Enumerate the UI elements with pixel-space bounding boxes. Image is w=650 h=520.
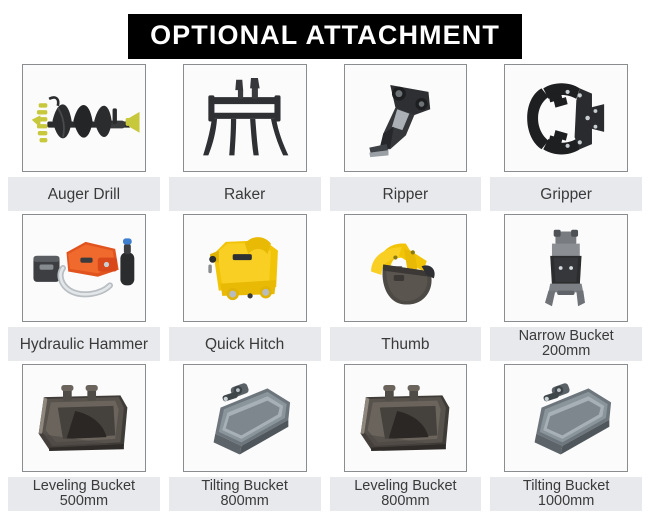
hydraulic-hammer-image-art xyxy=(23,215,145,321)
raker-image xyxy=(183,64,307,172)
attachment-card-leveling-bucket-800[interactable]: Leveling Bucket800mm xyxy=(330,364,482,514)
leveling-bucket-image-art xyxy=(345,365,467,471)
gripper-image xyxy=(504,64,628,172)
attachment-card-leveling-bucket-500[interactable]: Leveling Bucket500mm xyxy=(8,364,160,514)
attachment-name: Raker xyxy=(224,187,265,202)
attachment-label-thumb: Thumb xyxy=(330,327,482,361)
hydraulic-hammer-image xyxy=(22,214,146,322)
attachment-card-raker[interactable]: Raker xyxy=(169,64,321,214)
attachment-label-narrow-bucket: Narrow Bucket200mm xyxy=(490,327,642,361)
raker-image-art xyxy=(184,65,306,171)
attachment-card-tilting-bucket-800[interactable]: Tilting Bucket800mm xyxy=(169,364,321,514)
attachment-card-ripper[interactable]: Ripper xyxy=(330,64,482,214)
tilting-bucket-image xyxy=(504,364,628,472)
attachment-size: 500mm xyxy=(60,494,108,509)
attachment-name: Leveling Bucket xyxy=(33,479,135,494)
tilting-bucket-image-art xyxy=(184,365,306,471)
attachment-name: Ripper xyxy=(383,187,429,202)
attachment-size: 800mm xyxy=(220,494,268,509)
narrow-bucket-image-art xyxy=(505,215,627,321)
attachment-name: Narrow Bucket xyxy=(519,329,614,344)
attachment-card-gripper[interactable]: Gripper xyxy=(490,64,642,214)
thumb-image-art xyxy=(345,215,467,321)
leveling-bucket-image xyxy=(22,364,146,472)
attachment-label-hydraulic-hammer: Hydraulic Hammer xyxy=(8,327,160,361)
attachment-name: Gripper xyxy=(540,187,592,202)
leveling-bucket-image-art xyxy=(23,365,145,471)
attachment-card-narrow-bucket[interactable]: Narrow Bucket200mm xyxy=(490,214,642,364)
attachment-label-tilting-bucket-800: Tilting Bucket800mm xyxy=(169,477,321,511)
attachment-name: Hydraulic Hammer xyxy=(20,337,148,352)
thumb-image xyxy=(344,214,468,322)
ripper-image xyxy=(344,64,468,172)
attachment-card-thumb[interactable]: Thumb xyxy=(330,214,482,364)
title-banner-container: OPTIONAL ATTACHMENT xyxy=(0,14,650,59)
attachment-label-ripper: Ripper xyxy=(330,177,482,211)
attachment-size: 1000mm xyxy=(538,494,594,509)
attachment-card-auger-drill[interactable]: Auger Drill xyxy=(8,64,160,214)
attachment-grid: Auger Drill Raker Ripper xyxy=(8,64,642,514)
tilting-bucket-image xyxy=(183,364,307,472)
attachment-card-tilting-bucket-1000[interactable]: Tilting Bucket1000mm xyxy=(490,364,642,514)
quick-hitch-image-art xyxy=(184,215,306,321)
attachment-name: Leveling Bucket xyxy=(354,479,456,494)
attachment-name: Tilting Bucket xyxy=(201,479,288,494)
attachment-name: Auger Drill xyxy=(48,187,120,202)
attachment-label-leveling-bucket-800: Leveling Bucket800mm xyxy=(330,477,482,511)
attachment-size: 200mm xyxy=(542,344,590,359)
page-title: OPTIONAL ATTACHMENT xyxy=(128,14,522,59)
auger-drill-image-art xyxy=(23,65,145,171)
gripper-image-art xyxy=(505,65,627,171)
ripper-image-art xyxy=(345,65,467,171)
attachment-label-raker: Raker xyxy=(169,177,321,211)
attachment-label-leveling-bucket-500: Leveling Bucket500mm xyxy=(8,477,160,511)
narrow-bucket-image xyxy=(504,214,628,322)
attachment-label-gripper: Gripper xyxy=(490,177,642,211)
attachment-name: Thumb xyxy=(381,337,429,352)
attachment-name: Quick Hitch xyxy=(205,337,284,352)
attachment-label-auger-drill: Auger Drill xyxy=(8,177,160,211)
tilting-bucket-image-art xyxy=(505,365,627,471)
leveling-bucket-image xyxy=(344,364,468,472)
attachment-card-hydraulic-hammer[interactable]: Hydraulic Hammer xyxy=(8,214,160,364)
attachment-size: 800mm xyxy=(381,494,429,509)
auger-drill-image xyxy=(22,64,146,172)
attachment-name: Tilting Bucket xyxy=(523,479,610,494)
optional-attachment-page: OPTIONAL ATTACHMENT Auger Drill xyxy=(0,0,650,520)
attachment-label-tilting-bucket-1000: Tilting Bucket1000mm xyxy=(490,477,642,511)
quick-hitch-image xyxy=(183,214,307,322)
attachment-card-quick-hitch[interactable]: Quick Hitch xyxy=(169,214,321,364)
attachment-label-quick-hitch: Quick Hitch xyxy=(169,327,321,361)
